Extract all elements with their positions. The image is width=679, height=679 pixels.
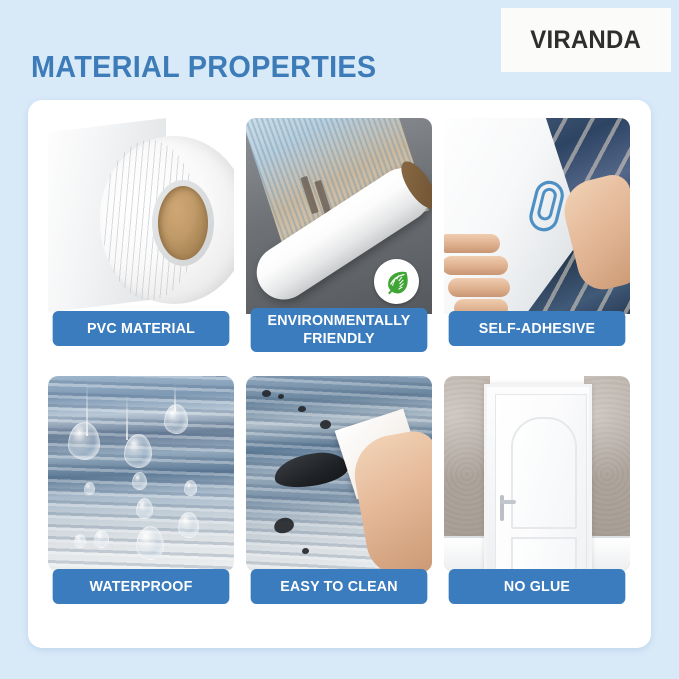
water-droplet — [84, 482, 95, 495]
water-droplet — [94, 530, 109, 548]
environmentally-friendly-image — [246, 118, 432, 314]
card-label-environmentally-friendly: ENVIRONMENTALLY FRIENDLY — [251, 308, 428, 352]
droplet-trail — [126, 394, 128, 440]
door-handle — [500, 495, 504, 521]
water-droplet — [178, 512, 199, 538]
water-droplet — [124, 434, 152, 468]
door-frame — [484, 384, 592, 572]
card-label-pvc-material: PVC MATERIAL — [53, 311, 230, 346]
card-label-self-adhesive: SELF-ADHESIVE — [449, 311, 626, 346]
brand-logo: VIRANDA — [501, 8, 671, 72]
self-adhesive-image — [444, 118, 630, 314]
property-card-self-adhesive[interactable]: SELF-ADHESIVE — [444, 118, 630, 356]
header: MATERIAL PROPERTIES VIRANDA — [0, 0, 679, 100]
water-droplet — [164, 404, 188, 434]
finger-shape — [444, 256, 508, 275]
leaf-badge — [374, 259, 419, 304]
water-droplet — [132, 472, 147, 490]
stain-spot — [320, 420, 331, 429]
page-title: MATERIAL PROPERTIES — [31, 49, 376, 85]
properties-panel: PVC MATERIAL ENVIR — [28, 100, 651, 648]
finger-shape — [448, 278, 510, 297]
waterproof-image — [48, 376, 234, 572]
door-panel-top — [511, 417, 577, 529]
property-card-waterproof[interactable]: WATERPROOF — [48, 376, 234, 614]
card-label-no-glue: NO GLUE — [449, 569, 626, 604]
pvc-roll-image — [48, 118, 234, 314]
card-label-waterproof: WATERPROOF — [53, 569, 230, 604]
water-droplet — [74, 534, 86, 548]
stain-spot — [262, 390, 271, 397]
easy-to-clean-image — [246, 376, 432, 572]
stain-spot — [273, 516, 296, 535]
water-droplet — [136, 526, 164, 560]
brand-logo-text: VIRANDA — [531, 26, 642, 55]
door-handle-lever — [500, 500, 516, 504]
no-glue-image — [444, 376, 630, 572]
properties-grid: PVC MATERIAL ENVIR — [48, 118, 631, 630]
door-slab — [495, 394, 587, 572]
water-droplet — [184, 480, 197, 496]
water-droplet — [136, 498, 153, 519]
roll-core-shape — [158, 186, 208, 260]
door-panel-bottom — [511, 537, 577, 572]
stain-main — [272, 449, 350, 491]
stain-spot — [278, 394, 284, 399]
property-card-no-glue[interactable]: NO GLUE — [444, 376, 630, 614]
stain-spot — [302, 548, 309, 554]
property-card-easy-to-clean[interactable]: EASY TO CLEAN — [246, 376, 432, 614]
left-hand-shape — [444, 230, 526, 314]
card-label-easy-to-clean: EASY TO CLEAN — [251, 569, 428, 604]
property-card-environmentally-friendly[interactable]: ENVIRONMENTALLY FRIENDLY — [246, 118, 432, 356]
stain-spot — [298, 406, 306, 412]
water-droplet — [68, 422, 100, 460]
property-card-pvc-material[interactable]: PVC MATERIAL — [48, 118, 234, 356]
finger-shape — [444, 234, 500, 253]
leaf-icon — [383, 268, 411, 296]
